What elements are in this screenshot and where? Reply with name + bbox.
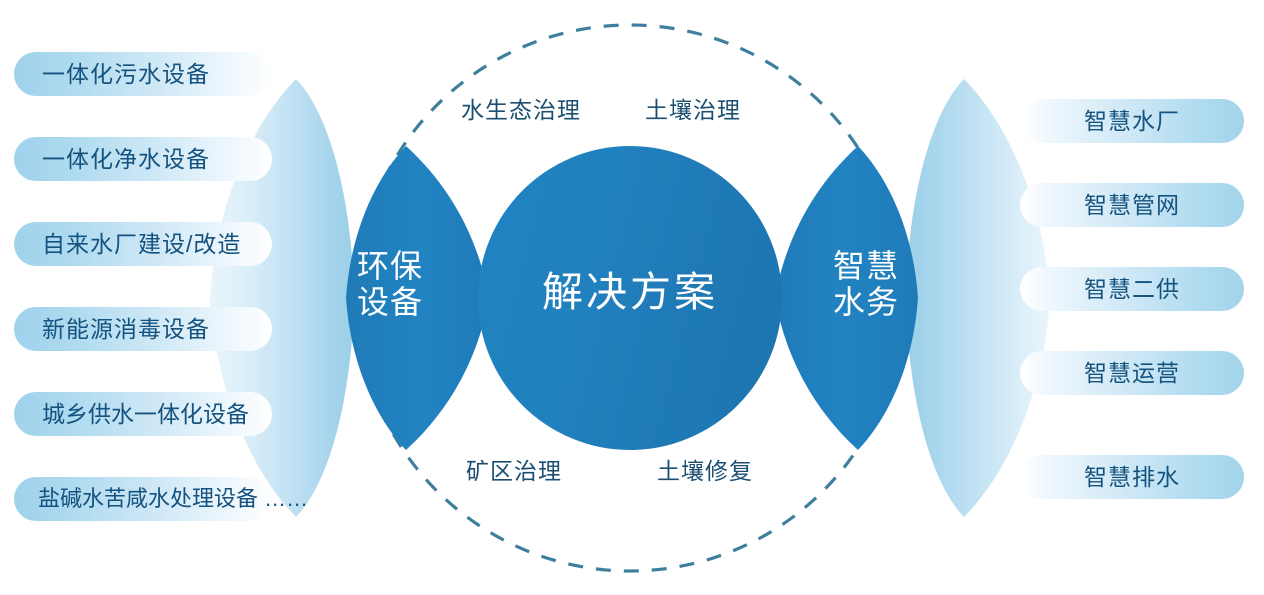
left-item-6[interactable]: 盐碱水苦咸水处理设备 ……: [14, 477, 272, 521]
right-item-5-label: 智慧排水: [1084, 466, 1180, 489]
right-wing-label-line1: 智慧: [814, 249, 918, 285]
right-item-3-label: 智慧二供: [1084, 278, 1180, 301]
left-wing-label: 环保 设备: [338, 249, 442, 321]
center-label: 解决方案: [500, 272, 760, 313]
right-wing-label-line2: 水务: [814, 285, 918, 321]
right-item-3[interactable]: 智慧二供: [1020, 267, 1244, 311]
orbit-caption-bottom-right: 土壤修复: [657, 460, 753, 483]
left-wing-label-line1: 环保: [338, 249, 442, 285]
left-item-2-label: 一体化净水设备: [42, 148, 210, 171]
left-item-6-label: 盐碱水苦咸水处理设备 ……: [38, 488, 308, 510]
right-wing-label: 智慧 水务: [814, 249, 918, 321]
left-item-4[interactable]: 新能源消毒设备: [14, 307, 272, 351]
left-item-3-label: 自来水厂建设/改造: [42, 233, 241, 256]
left-item-3[interactable]: 自来水厂建设/改造: [14, 222, 272, 266]
right-item-1[interactable]: 智慧水厂: [1020, 99, 1244, 143]
left-item-4-label: 新能源消毒设备: [42, 318, 210, 341]
right-item-1-label: 智慧水厂: [1084, 110, 1180, 133]
left-item-1[interactable]: 一体化污水设备: [14, 52, 272, 96]
left-item-2[interactable]: 一体化净水设备: [14, 137, 272, 181]
orbit-caption-top-right: 土壤治理: [645, 99, 741, 122]
left-item-5-label: 城乡供水一体化设备: [42, 403, 249, 426]
left-wing-label-line2: 设备: [338, 285, 442, 321]
right-item-4-label: 智慧运营: [1084, 362, 1180, 385]
orbit-caption-bottom-left: 矿区治理: [466, 460, 562, 483]
right-item-2[interactable]: 智慧管网: [1020, 183, 1244, 227]
diagram-canvas: 一体化污水设备 一体化净水设备 自来水厂建设/改造 新能源消毒设备 城乡供水一体…: [0, 0, 1264, 595]
orbit-caption-top-left: 水生态治理: [461, 99, 581, 122]
left-item-1-label: 一体化污水设备: [42, 63, 210, 86]
right-item-4[interactable]: 智慧运营: [1020, 351, 1244, 395]
right-item-2-label: 智慧管网: [1084, 194, 1180, 217]
left-item-5[interactable]: 城乡供水一体化设备: [14, 392, 272, 436]
right-item-5[interactable]: 智慧排水: [1020, 455, 1244, 499]
